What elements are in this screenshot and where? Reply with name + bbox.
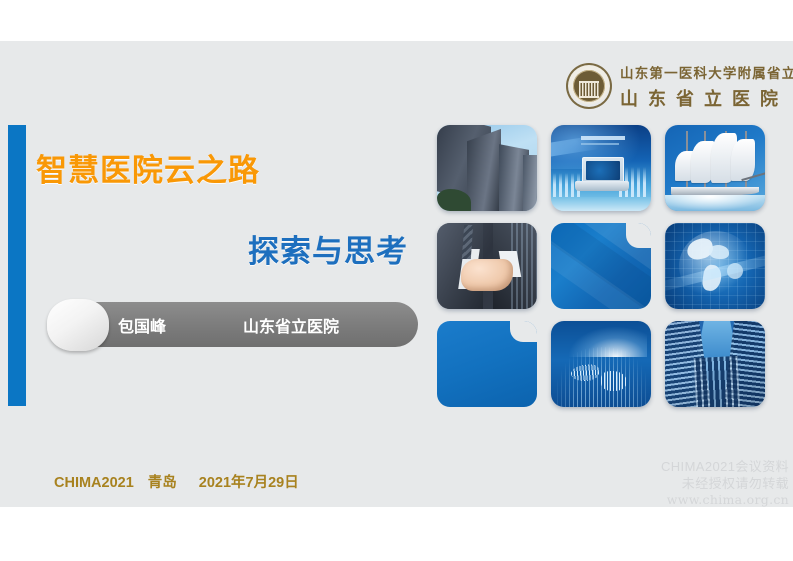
slide-title-main: 智慧医院云之路	[36, 145, 260, 190]
hospital-seal-icon	[566, 63, 612, 109]
footer-city: 青岛	[148, 475, 177, 491]
footer-conference-line: CHIMA2021青岛2021年7月29日	[54, 471, 299, 492]
collage-tile-digital-laptop-city	[551, 125, 651, 211]
hospital-logo-text: 山东第一医科大学附属省立医院 山东省立医院	[620, 62, 793, 111]
watermark-line1: CHIMA2021会议资料	[649, 459, 789, 476]
collage-tile-business-handshake	[437, 223, 537, 309]
watermark-url: www.chima.org.cn	[649, 492, 789, 507]
collage-tile-globe-network	[665, 223, 765, 309]
slide-title-sub: 探索与思考	[248, 226, 408, 271]
speaker-organization: 山东省立医院	[243, 313, 339, 337]
hospital-short-name: 山东省立医院	[620, 85, 793, 111]
speaker-bar: 包国峰 山东省立医院	[49, 302, 418, 347]
footer-conference: CHIMA2021	[54, 475, 134, 491]
collage-tile-blue-flat-panel	[437, 321, 537, 407]
collage-tile-earth-horizon-map	[551, 321, 651, 407]
slide-page: 山东第一医科大学附属省立医院 山东省立医院 智慧医院云之路 探索与思考 包国峰 …	[0, 41, 793, 507]
speaker-name: 包国峰	[118, 313, 166, 337]
avatar	[47, 299, 109, 351]
collage-tile-sailing-ship	[665, 125, 765, 211]
image-collage	[437, 125, 767, 406]
watermark: CHIMA2021会议资料 未经授权请勿转载 www.chima.org.cn	[649, 459, 789, 507]
hospital-full-name: 山东第一医科大学附属省立医院	[620, 62, 793, 82]
left-accent-bar	[8, 125, 26, 406]
hospital-logo: 山东第一医科大学附属省立医院 山东省立医院	[566, 55, 784, 117]
watermark-line2: 未经授权请勿转载	[649, 476, 789, 493]
collage-tile-skyscrapers-glass	[437, 125, 537, 211]
collage-tile-skyscrapers-upward	[665, 321, 765, 407]
footer-date: 2021年7月29日	[199, 475, 299, 491]
collage-tile-blue-gradient-panel	[551, 223, 651, 309]
